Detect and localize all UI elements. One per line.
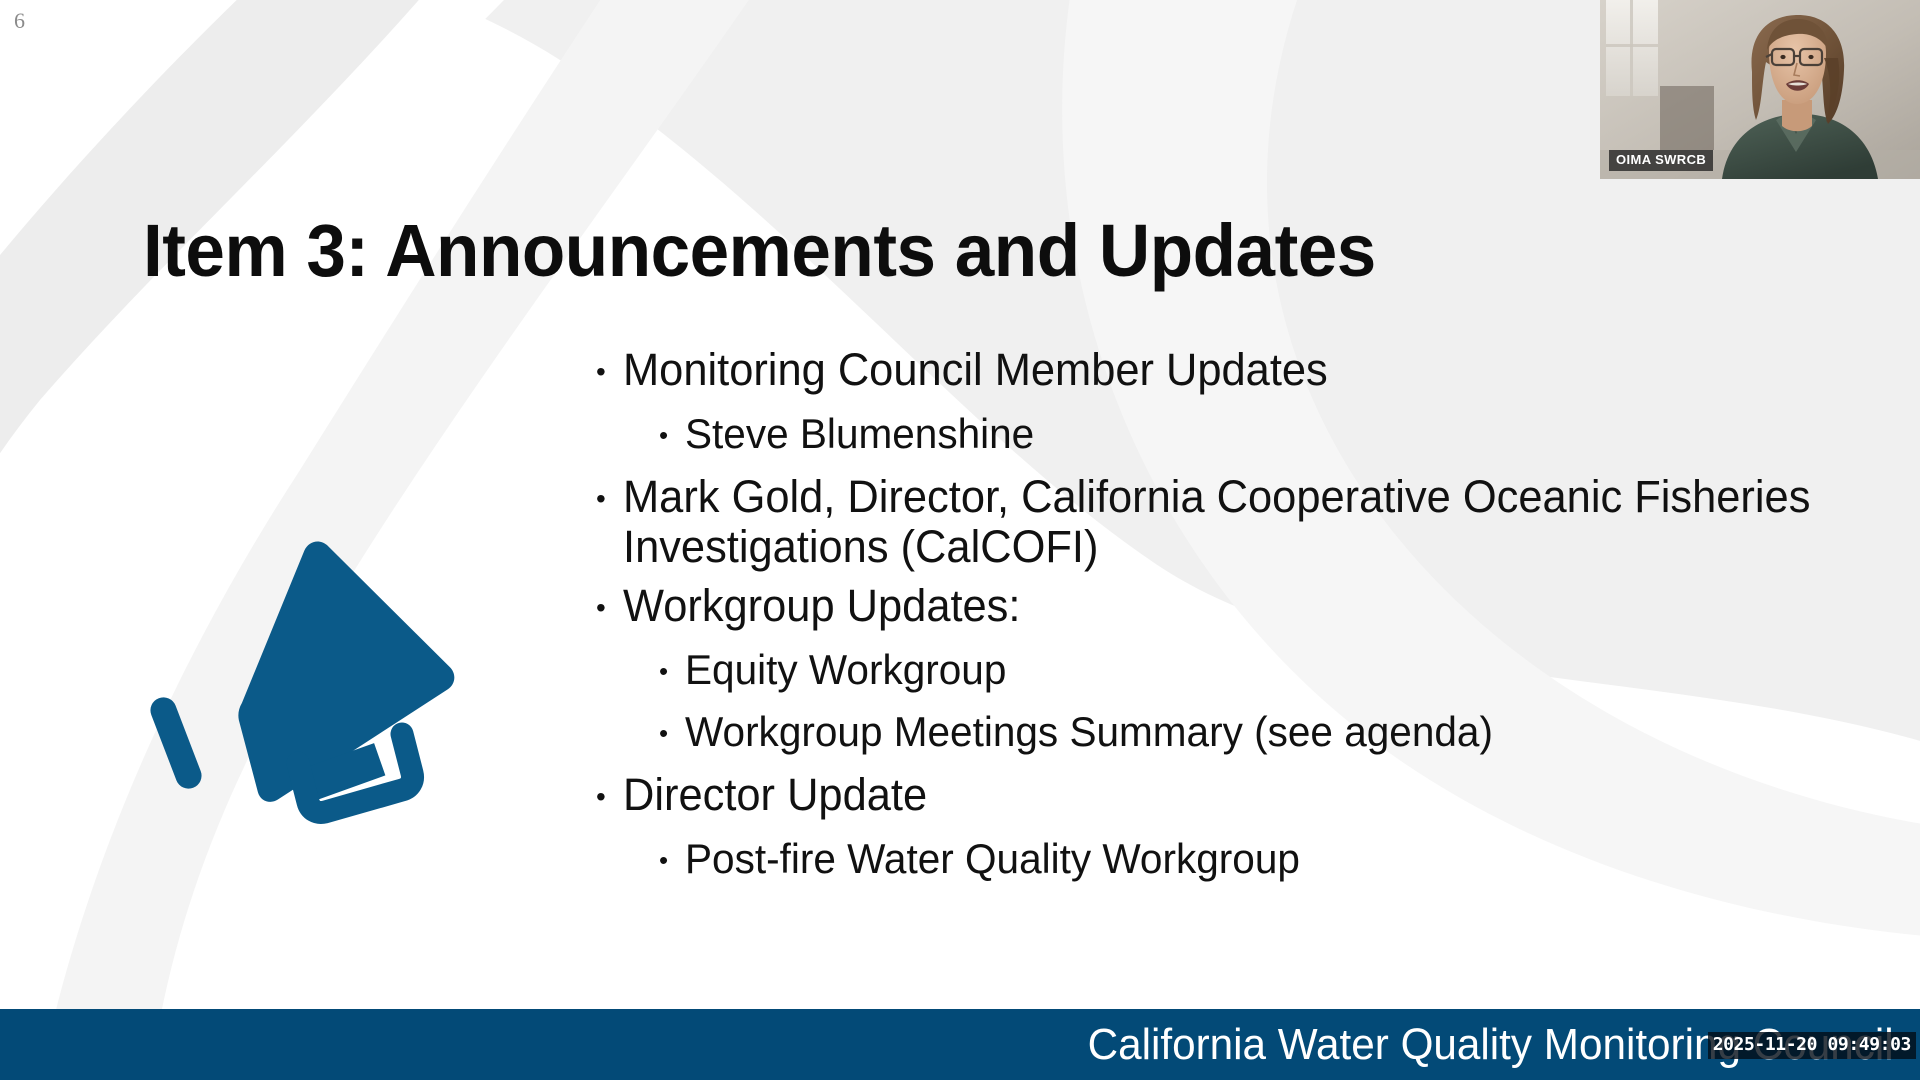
- list-item-label: Equity Workgroup: [685, 646, 1844, 694]
- participant-name-label: OIMA SWRCB: [1609, 150, 1713, 171]
- bullet-dot-icon: [596, 345, 623, 401]
- list-item: Workgroup Updates:: [596, 581, 1886, 637]
- list-item-label: Director Update: [623, 770, 1842, 820]
- bullet-dot-icon: [596, 770, 623, 826]
- list-item: Director Update: [596, 770, 1886, 826]
- page-title: Item 3: Announcements and Updates: [143, 208, 1679, 294]
- list-item: Equity Workgroup: [596, 646, 1886, 699]
- list-item-label: Mark Gold, Director, California Cooperat…: [623, 472, 1842, 572]
- list-item: Workgroup Meetings Summary (see agenda): [596, 708, 1886, 761]
- recording-timestamp: 2025-11-20 09:49:03: [1708, 1032, 1916, 1059]
- bullet-dot-icon: [596, 581, 623, 637]
- list-item-label: Monitoring Council Member Updates: [623, 345, 1842, 395]
- presentation-slide: 6 Item 3: Announcements and Updates Moni…: [0, 0, 1920, 1080]
- list-item-label: Steve Blumenshine: [685, 410, 1844, 458]
- list-item-label: Post-fire Water Quality Workgroup: [685, 835, 1844, 883]
- list-item: Steve Blumenshine: [596, 410, 1886, 463]
- list-item: Monitoring Council Member Updates: [596, 345, 1886, 401]
- footer-bar: California Water Quality Monitoring Coun…: [0, 1009, 1920, 1080]
- list-item: Post-fire Water Quality Workgroup: [596, 835, 1886, 888]
- webcam-video-tile[interactable]: OIMA SWRCB: [1600, 0, 1920, 179]
- bullet-dot-icon: [659, 646, 685, 699]
- bullet-dot-icon: [659, 708, 685, 761]
- list-item: Mark Gold, Director, California Cooperat…: [596, 472, 1886, 572]
- bullet-dot-icon: [659, 410, 685, 463]
- bullet-dot-icon: [659, 835, 685, 888]
- list-item-label: Workgroup Updates:: [623, 581, 1842, 631]
- bullet-list: Monitoring Council Member Updates Steve …: [596, 345, 1886, 897]
- list-item-label: Workgroup Meetings Summary (see agenda): [685, 708, 1844, 756]
- bullet-dot-icon: [596, 472, 623, 528]
- megaphone-icon: [140, 510, 560, 830]
- page-number: 6: [14, 8, 26, 34]
